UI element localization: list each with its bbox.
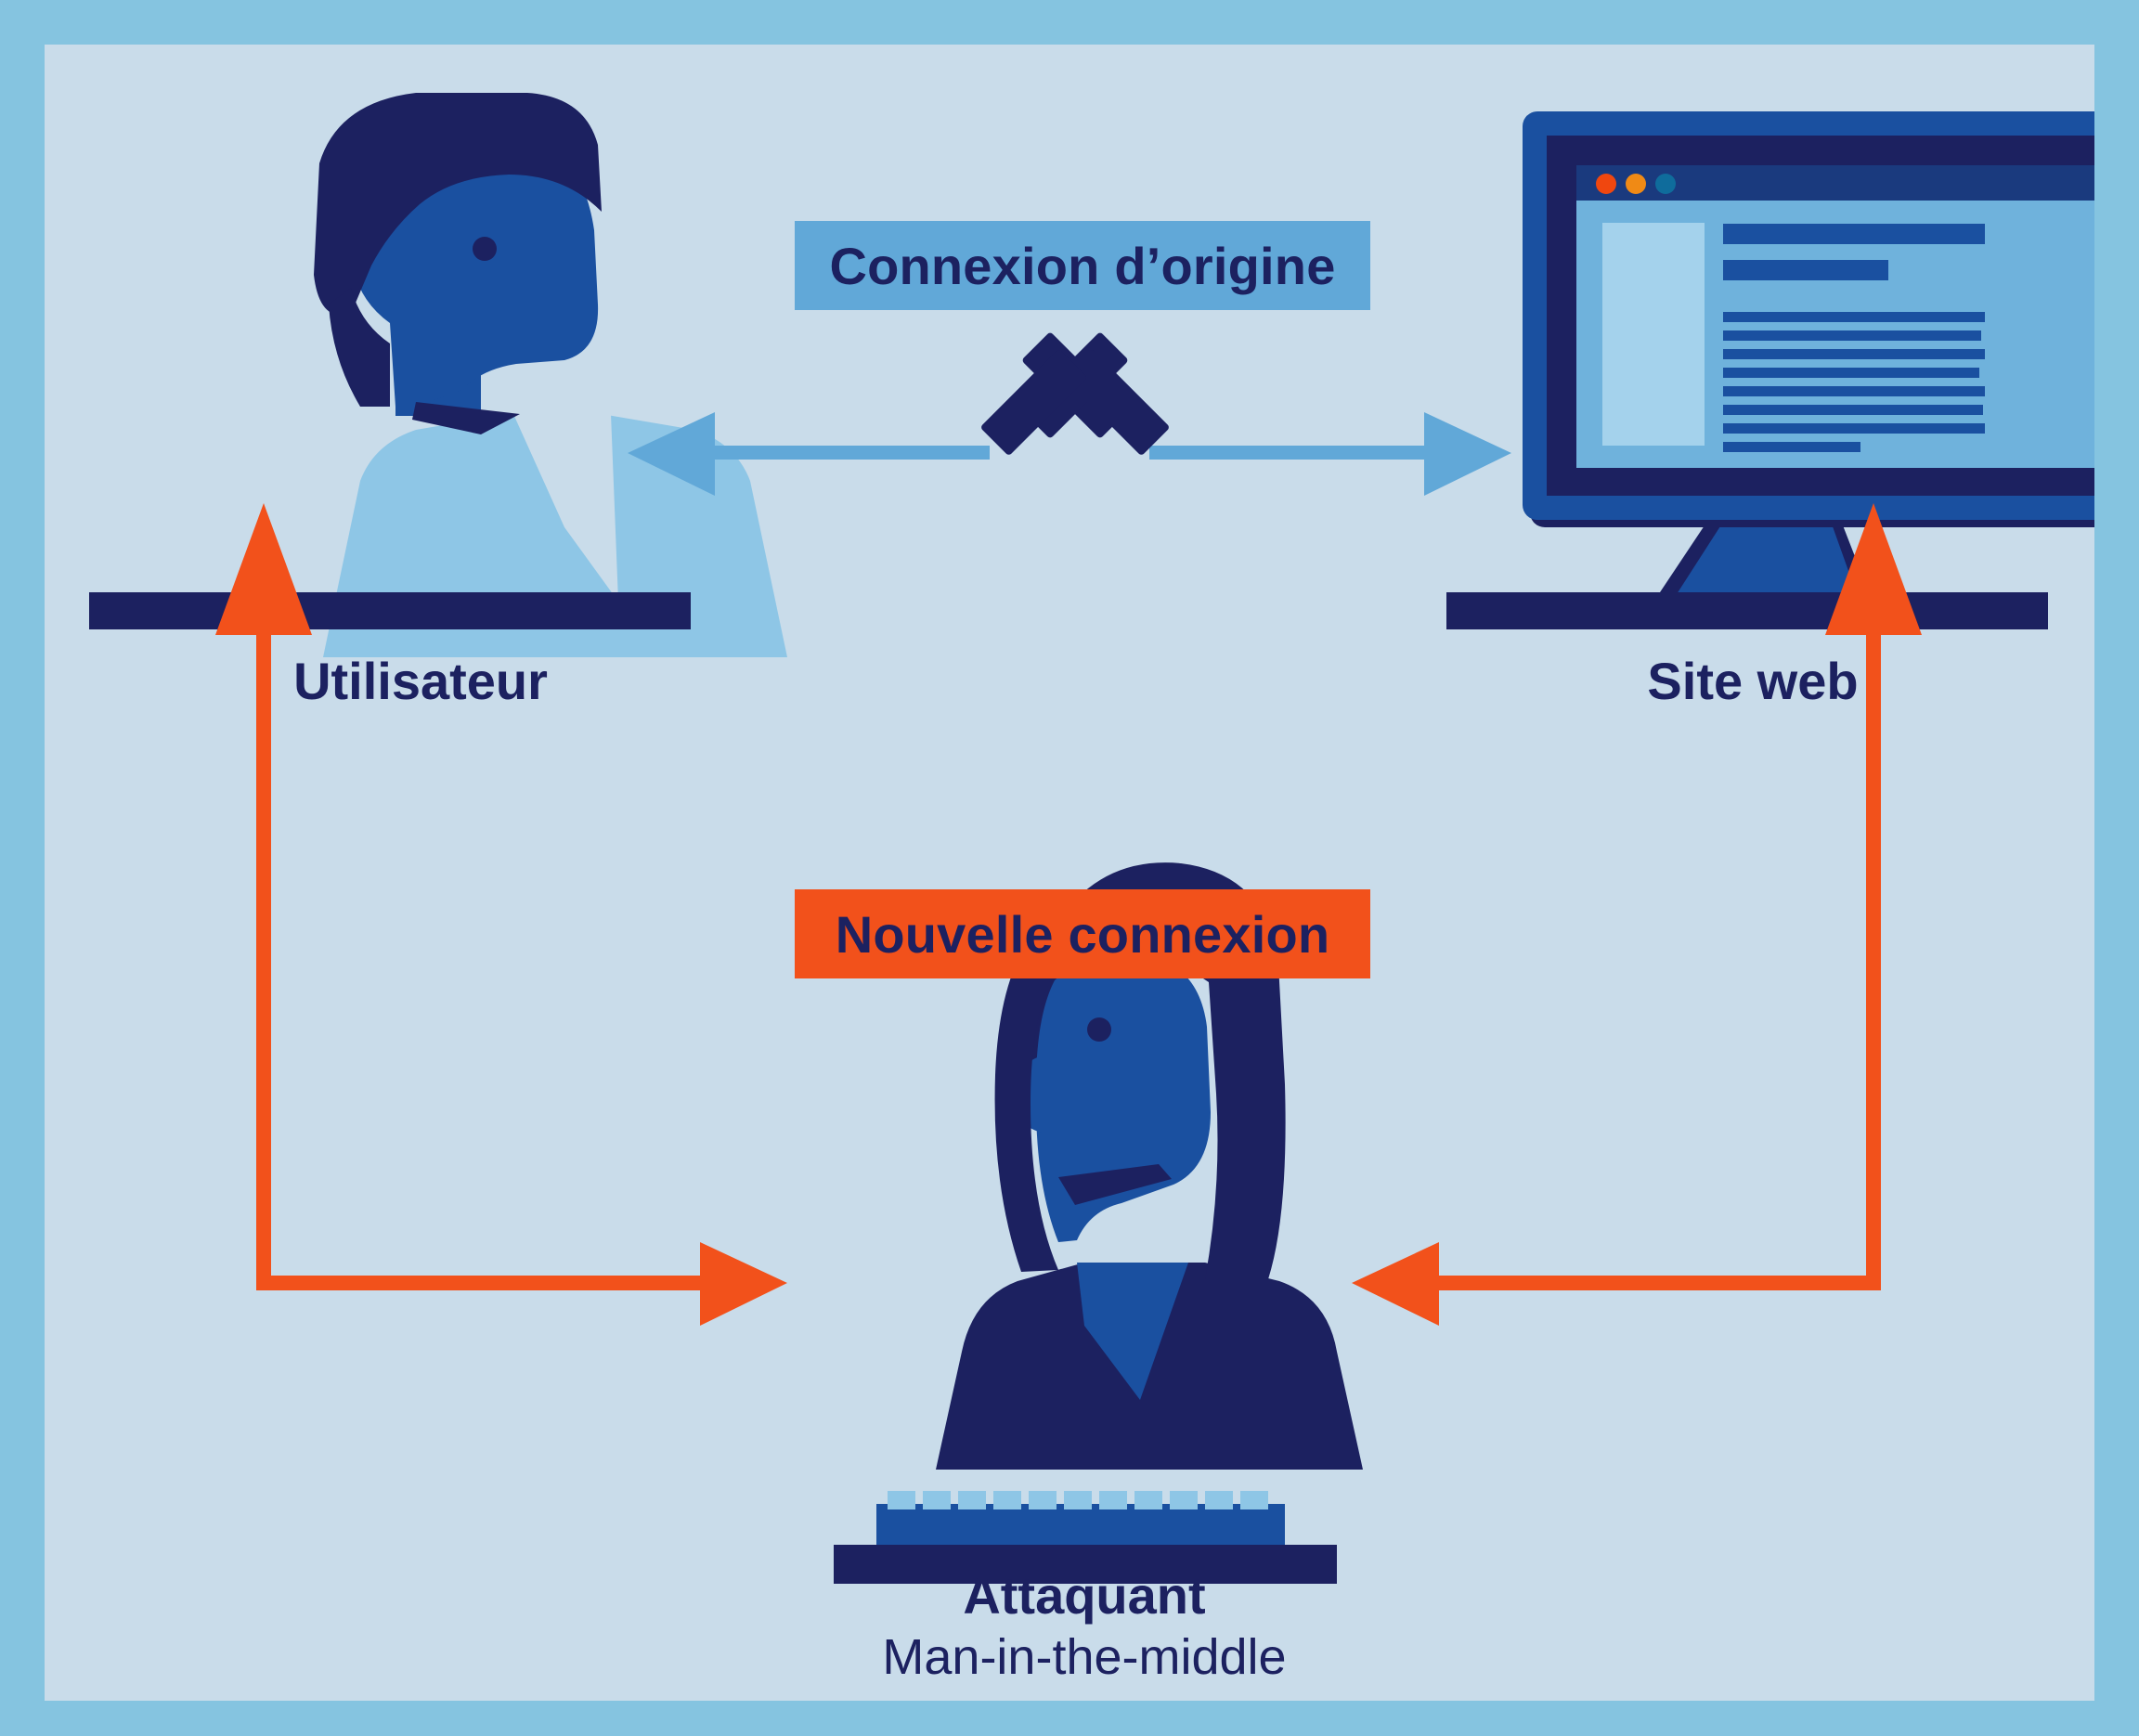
user-desk — [89, 592, 691, 629]
keyboard-key — [1170, 1491, 1198, 1509]
browser-text-line — [1723, 405, 1983, 415]
browser-text-line — [1723, 442, 1860, 452]
user-illustration — [89, 93, 787, 657]
browser-text-line — [1723, 368, 1979, 378]
keyboard-key — [1205, 1491, 1233, 1509]
arrow-up-to-user-icon — [215, 503, 312, 635]
arrow-right-to-attacker-icon — [700, 1242, 787, 1326]
arrow-left-to-attacker-icon — [1352, 1242, 1439, 1326]
user-node-label: Utilisateur — [82, 653, 759, 711]
keyboard-key — [1064, 1491, 1092, 1509]
browser-subheading-bar — [1723, 260, 1888, 280]
browser-text-line — [1723, 312, 1985, 322]
browser-text-line — [1723, 330, 1981, 341]
keyboard-key — [923, 1491, 951, 1509]
attacker-eye — [1087, 1017, 1111, 1042]
browser-text-line — [1723, 423, 1985, 434]
browser-dot-red-icon — [1596, 174, 1616, 194]
keyboard-body — [876, 1504, 1285, 1550]
site-desk — [1446, 592, 2048, 629]
attacker-node-label: Attaquant Man-in-the-middle — [694, 1567, 1474, 1685]
new-connection-label: Nouvelle connexion — [836, 904, 1330, 965]
browser-text-line — [1723, 349, 1985, 359]
keyboard-key — [1099, 1491, 1127, 1509]
browser-sidebar-panel — [1602, 223, 1705, 446]
browser-dot-amber-icon — [1626, 174, 1646, 194]
browser-text-line — [1723, 386, 1985, 396]
original-connection-label: Connexion d’origine — [829, 236, 1335, 296]
attacker-subtitle: Man-in-the-middle — [694, 1629, 1474, 1685]
browser-titlebar — [1576, 165, 2094, 201]
attacker-face — [1036, 954, 1211, 1242]
site-illustration — [1446, 111, 2094, 629]
x-cross-icon — [979, 331, 1170, 456]
new-connection-band: Nouvelle connexion — [795, 889, 1370, 978]
browser-heading-bar — [1723, 224, 1985, 244]
keyboard-key — [1134, 1491, 1162, 1509]
keyboard-key — [888, 1491, 915, 1509]
diagram-canvas: Connexion d’origine Nouvelle connexion U… — [45, 45, 2094, 1701]
keyboard-key — [993, 1491, 1021, 1509]
right-horizontal-shaft — [1419, 1276, 1881, 1290]
left-horizontal-shaft — [256, 1276, 720, 1290]
diagram-frame: Connexion d’origine Nouvelle connexion U… — [0, 0, 2139, 1736]
browser-dot-blue-icon — [1655, 174, 1676, 194]
keyboard-key — [1029, 1491, 1057, 1509]
arrow-right-to-site-icon — [1424, 412, 1511, 496]
attacker-title: Attaquant — [694, 1567, 1474, 1626]
user-eye — [473, 237, 497, 261]
keyboard-key — [958, 1491, 986, 1509]
original-right-shaft — [1149, 446, 1437, 460]
original-left-shaft — [694, 446, 990, 460]
original-connection-band: Connexion d’origine — [795, 221, 1370, 310]
keyboard-key — [1240, 1491, 1268, 1509]
original-connection — [628, 331, 1511, 496]
site-node-label: Site web — [1428, 653, 2078, 711]
